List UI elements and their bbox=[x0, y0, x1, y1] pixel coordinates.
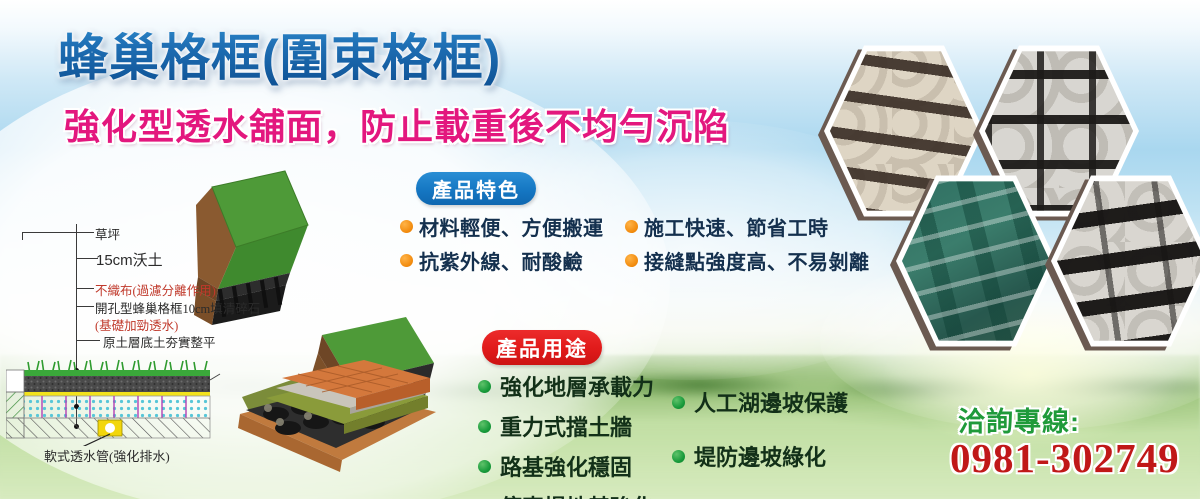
feature-item: 材料輕便、方便搬運 bbox=[400, 212, 625, 241]
use-item: 停車場地基強化 bbox=[478, 490, 654, 499]
diagram-caption-drainpipe: 軟式透水管(強化排水) bbox=[44, 446, 170, 465]
use-item: 重力式擋土牆 bbox=[478, 410, 654, 442]
bullet-dot-icon bbox=[672, 396, 685, 409]
use-label: 人工湖邊坡保護 bbox=[694, 386, 848, 418]
bullet-dot-icon bbox=[478, 380, 491, 393]
use-label: 停車場地基強化 bbox=[500, 490, 654, 499]
feature-label: 抗紫外線、耐酸鹼 bbox=[419, 246, 583, 275]
use-label: 重力式擋土牆 bbox=[500, 410, 632, 442]
uses-badge: 產品用途 bbox=[482, 330, 602, 365]
feature-item: 抗紫外線、耐酸鹼 bbox=[400, 246, 625, 275]
bullet-dot-icon bbox=[400, 254, 413, 267]
use-item: 海岸線強化.防止沖刷 bbox=[672, 494, 898, 499]
uses-column-left: 強化地層承載力 重力式擋土牆 路基強化穩固 停車場地基強化 bbox=[478, 370, 654, 499]
page-subtitle: 強化型透水舖面，防止載重後不均勻沉陷 bbox=[64, 98, 730, 150]
use-label: 堤防邊坡綠化 bbox=[694, 440, 826, 472]
diagram-label-lawn: 草坪 bbox=[95, 224, 120, 243]
feature-label: 施工快速、節省工時 bbox=[644, 212, 829, 241]
use-label: 海岸線強化.防止沖刷 bbox=[694, 494, 898, 499]
use-item: 堤防邊坡綠化 bbox=[672, 440, 898, 472]
diagram-label-subgrade: 原土層底土夯實整平 bbox=[103, 332, 216, 351]
contact-phone[interactable]: 0981-302749 bbox=[950, 434, 1180, 482]
page-title: 蜂巢格框(圍束格框) bbox=[58, 18, 501, 90]
features-badge: 產品特色 bbox=[416, 172, 536, 205]
product-banner: 草坪 15cm沃土 不織布(過濾分離作用) 開孔型蜂巢格框10cm填清碎石 (基… bbox=[0, 0, 1200, 499]
bullet-dot-icon bbox=[400, 220, 413, 233]
feature-label: 材料輕便、方便搬運 bbox=[419, 212, 604, 241]
use-label: 路基強化穩固 bbox=[500, 450, 632, 482]
feature-item: 接縫點強度高、不易剝離 bbox=[625, 246, 890, 275]
bullet-dot-icon bbox=[478, 420, 491, 433]
bullet-dot-icon bbox=[672, 450, 685, 463]
use-label: 強化地層承載力 bbox=[500, 370, 654, 402]
bullet-dot-icon bbox=[478, 460, 491, 473]
use-item: 路基強化穩固 bbox=[478, 450, 654, 482]
use-item: 人工湖邊坡保護 bbox=[672, 386, 898, 418]
bullet-dot-icon bbox=[625, 254, 638, 267]
section-stack bbox=[6, 356, 222, 446]
features-list: 材料輕便、方便搬運 施工快速、節省工時 抗紫外線、耐酸鹼 接縫點強度高、不易剝離 bbox=[400, 212, 890, 275]
uses-column-right: 人工湖邊坡保護 堤防邊坡綠化 海岸線強化.防止沖刷 bbox=[672, 386, 898, 499]
use-item: 強化地層承載力 bbox=[478, 370, 654, 402]
cross-section-diagram: 草坪 15cm沃土 不織布(過濾分離作用) 開孔型蜂巢格框10cm填清碎石 (基… bbox=[0, 218, 300, 483]
feature-label: 接縫點強度高、不易剝離 bbox=[644, 246, 870, 275]
diagram-label-topsoil: 15cm沃土 bbox=[96, 249, 163, 270]
bullet-dot-icon bbox=[625, 220, 638, 233]
feature-item: 施工快速、節省工時 bbox=[625, 212, 890, 241]
diagram-label-geotextile: 不織布(過濾分離作用) bbox=[95, 280, 216, 299]
